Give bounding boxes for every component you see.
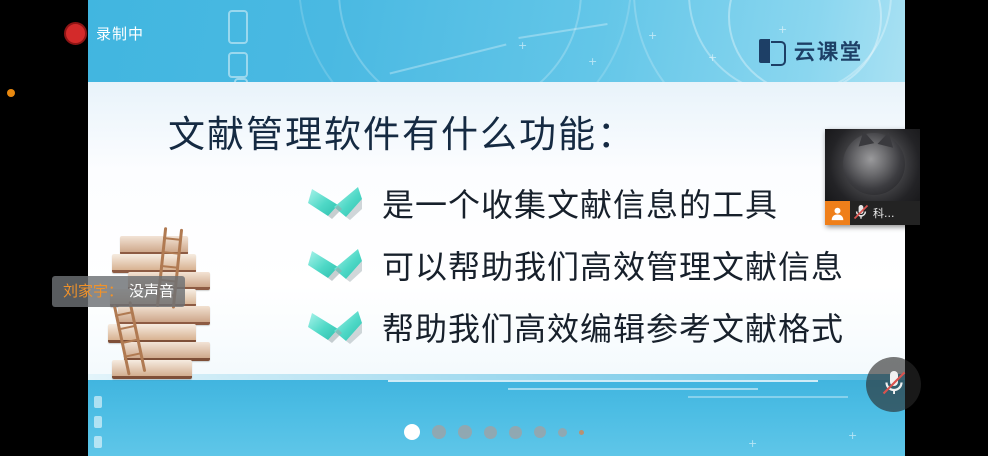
- recording-indicator: 录制中: [64, 22, 144, 45]
- slide-footer-band: + +: [88, 374, 905, 456]
- orange-dot-marker: [7, 89, 15, 97]
- brand-logo: 云课堂: [759, 36, 863, 66]
- brand-logo-text: 云课堂: [794, 36, 863, 66]
- bullet-text: 帮助我们高效编辑参考文献格式: [382, 304, 844, 350]
- book-icon: [759, 39, 785, 63]
- slide-title: 文献管理软件有什么功能：: [168, 104, 636, 158]
- meeting-screen: + + + + + 云课堂 文献管理软件有什么功能：: [0, 0, 988, 456]
- decor-rect: [228, 52, 248, 78]
- decor-line: [508, 388, 758, 390]
- video-feed: [825, 129, 920, 201]
- decor-spark: +: [778, 24, 787, 35]
- pagination-dot[interactable]: [558, 428, 567, 437]
- bullet-text: 可以帮助我们高效管理文献信息: [382, 242, 844, 288]
- arrow-ribbon-icon: [308, 307, 364, 347]
- recording-label: 录制中: [96, 23, 144, 44]
- decor-spark: +: [708, 52, 717, 63]
- decor-spark: +: [648, 30, 657, 41]
- chat-sender-name: 刘家宇：: [63, 280, 123, 301]
- decor-arc: [298, 0, 632, 82]
- participant-name: 科...: [873, 205, 895, 221]
- decor-rect: [228, 10, 248, 44]
- pagination-dot[interactable]: [534, 426, 546, 438]
- slide-bullet-list: 是一个收集文献信息的工具 可以帮助我们高效管理文献信息: [308, 172, 844, 358]
- person-icon: [825, 201, 850, 225]
- pagination-dot[interactable]: [579, 430, 584, 435]
- pagination-dot[interactable]: [484, 426, 497, 439]
- bullet-text: 是一个收集文献信息的工具: [382, 180, 778, 226]
- chat-message-bubble: 刘家宇： 没声音: [52, 276, 185, 307]
- record-dot-icon: [64, 22, 87, 45]
- bullet-item: 可以帮助我们高效管理文献信息: [308, 234, 844, 296]
- mic-muted-icon: [877, 366, 911, 404]
- decor-square: [94, 436, 102, 448]
- video-tile-footer: 科...: [825, 201, 920, 225]
- mic-toggle-button[interactable]: [866, 357, 921, 412]
- decor-spark: +: [748, 438, 757, 449]
- chat-message-text: 没声音: [129, 280, 174, 301]
- pagination-dot[interactable]: [458, 425, 472, 439]
- mic-muted-icon[interactable]: [850, 201, 872, 225]
- bullet-item: 是一个收集文献信息的工具: [308, 172, 844, 234]
- arrow-ribbon-icon: [308, 183, 364, 223]
- decor-line: [388, 380, 818, 382]
- arrow-ribbon-icon: [308, 245, 364, 285]
- pagination-dot[interactable]: [432, 425, 446, 439]
- participant-video-tile[interactable]: 科...: [825, 129, 920, 225]
- shared-slide[interactable]: + + + + + 云课堂 文献管理软件有什么功能：: [88, 0, 905, 456]
- stacked-books-illustration: [98, 232, 228, 382]
- decor-square: [94, 396, 102, 408]
- pagination-dot[interactable]: [509, 426, 522, 439]
- bullet-item: 帮助我们高效编辑参考文献格式: [308, 296, 844, 358]
- decor-spark: +: [848, 430, 857, 441]
- decor-line: [688, 396, 848, 398]
- slide-header-band: + + + + + 云课堂: [88, 0, 905, 82]
- pagination-dot-active[interactable]: [404, 424, 420, 440]
- decor-square: [94, 416, 102, 428]
- slide-pagination[interactable]: [404, 424, 584, 440]
- decor-spark: +: [588, 56, 597, 67]
- decor-spark: +: [518, 40, 527, 51]
